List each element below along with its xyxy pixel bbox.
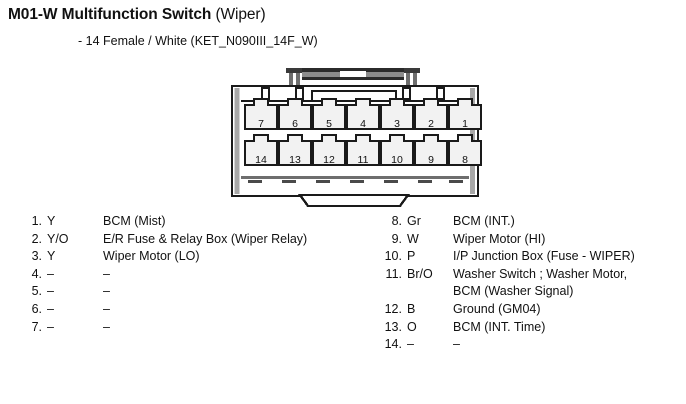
pin-number-12: 12: [323, 154, 335, 166]
pin-index: 4.: [16, 266, 42, 284]
pin-color: –: [402, 336, 453, 354]
pin-index: 11.: [378, 266, 402, 284]
pin-row: 11. Br/O Washer Switch ; Washer Motor,: [378, 266, 635, 284]
page-title: M01-W Multifunction Switch (Wiper): [8, 6, 266, 24]
title-code: M01-W: [8, 6, 57, 23]
pin-number-2: 2: [428, 118, 434, 130]
pin-color: –: [42, 283, 103, 301]
pin-description: –: [103, 283, 110, 301]
pin-number-13: 13: [289, 154, 301, 166]
pin-number-3: 3: [394, 118, 400, 130]
pin-row: 10. P I/P Junction Box (Fuse - WIPER): [378, 248, 635, 266]
pin-index: 2.: [16, 231, 42, 249]
pin-number-14: 14: [255, 154, 267, 166]
connector-diagram: 7 6 5 4 3 2 1 14 13 12 11 10 9 8: [218, 64, 488, 209]
pin-color: Y: [42, 213, 103, 231]
pin-description: BCM (INT. Time): [453, 319, 545, 337]
pin-description: BCM (Mist): [103, 213, 166, 231]
pin-row: 7. – –: [16, 319, 307, 337]
pin-description: E/R Fuse & Relay Box (Wiper Relay): [103, 231, 307, 249]
pin-index: 14.: [378, 336, 402, 354]
pin-color: –: [42, 301, 103, 319]
pin-index: 5.: [16, 283, 42, 301]
pin-number-6: 6: [292, 118, 298, 130]
pin-color: W: [402, 231, 453, 249]
pin-description: Washer Switch ; Washer Motor,: [453, 266, 627, 284]
pin-description: –: [103, 301, 110, 319]
pin-index: 9.: [378, 231, 402, 249]
pin-row: 1. Y BCM (Mist): [16, 213, 307, 231]
pin-row: 4. – –: [16, 266, 307, 284]
pin-color: Y/O: [42, 231, 103, 249]
pin-description: Ground (GM04): [453, 301, 541, 319]
pin-description: BCM (Washer Signal): [453, 283, 573, 301]
pin-number-10: 10: [391, 154, 403, 166]
pin-color: –: [42, 319, 103, 337]
pin-row: 12. B Ground (GM04): [378, 301, 635, 319]
pin-number-11: 11: [358, 154, 369, 166]
pin-number-1: 1: [462, 118, 468, 130]
pin-index: 8.: [378, 213, 402, 231]
connector-subtitle: - 14 Female / White (KET_N090III_14F_W): [78, 34, 318, 48]
pinout-table-left: 1. Y BCM (Mist) 2. Y/O E/R Fuse & Relay …: [16, 213, 307, 336]
pin-color: Gr: [402, 213, 453, 231]
pin-color: O: [402, 319, 453, 337]
pin-index: 1.: [16, 213, 42, 231]
pin-row: 8. Gr BCM (INT.): [378, 213, 635, 231]
pin-description: –: [103, 319, 110, 337]
title-name: Multifunction Switch: [62, 6, 212, 23]
connector-bottom-tab: [300, 195, 408, 206]
pin-color: B: [402, 301, 453, 319]
pin-description: Wiper Motor (HI): [453, 231, 545, 249]
pin-description: –: [103, 266, 110, 284]
pin-index: 7.: [16, 319, 42, 337]
pin-row: 13. O BCM (INT. Time): [378, 319, 635, 337]
pin-description: BCM (INT.): [453, 213, 515, 231]
pin-number-9: 9: [428, 154, 434, 166]
title-suffix: (Wiper): [215, 6, 265, 23]
pin-index: 6.: [16, 301, 42, 319]
pin-row: 6. – –: [16, 301, 307, 319]
pin-index: 13.: [378, 319, 402, 337]
pin-color: –: [42, 266, 103, 284]
pin-row: 3. Y Wiper Motor (LO): [16, 248, 307, 266]
pin-number-4: 4: [360, 118, 366, 130]
pin-description: Wiper Motor (LO): [103, 248, 200, 266]
pin-index: 10.: [378, 248, 402, 266]
pin-row-continuation: BCM (Washer Signal): [378, 283, 635, 301]
pinout-lists: 1. Y BCM (Mist) 2. Y/O E/R Fuse & Relay …: [0, 213, 686, 403]
pin-number-7: 7: [258, 118, 264, 130]
pin-description: I/P Junction Box (Fuse - WIPER): [453, 248, 635, 266]
pin-row: 14. – –: [378, 336, 635, 354]
pin-number-8: 8: [462, 154, 468, 166]
pin-row: 2. Y/O E/R Fuse & Relay Box (Wiper Relay…: [16, 231, 307, 249]
pin-number-5: 5: [326, 118, 332, 130]
pin-row: 9. W Wiper Motor (HI): [378, 231, 635, 249]
pin-color: Br/O: [402, 266, 453, 284]
pin-index: 12.: [378, 301, 402, 319]
pin-row: 5. – –: [16, 283, 307, 301]
pin-color: P: [402, 248, 453, 266]
pin-color: Y: [42, 248, 103, 266]
pin-description: –: [453, 336, 460, 354]
pin-index: 3.: [16, 248, 42, 266]
pinout-table-right: 8. Gr BCM (INT.) 9. W Wiper Motor (HI) 1…: [378, 213, 635, 354]
